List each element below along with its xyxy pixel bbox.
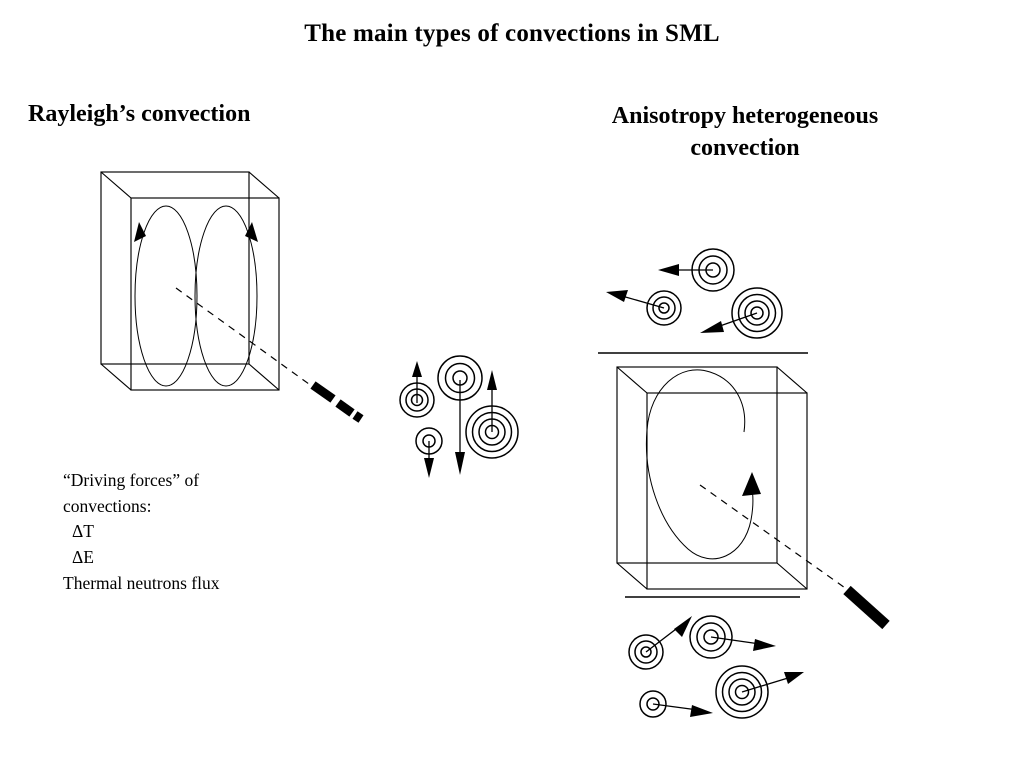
right-convection-box bbox=[617, 367, 807, 589]
vortex-center-a-arrowhead bbox=[412, 361, 422, 377]
vortex-upper-a-arrowhead bbox=[658, 264, 679, 276]
vortex-upper-c bbox=[700, 288, 782, 338]
vortex-center-c-arrowhead bbox=[424, 458, 434, 478]
right-box-edge-bl bbox=[617, 563, 647, 589]
right-box-convection-cell bbox=[646, 370, 761, 559]
vortex-upper-b-arrow-line bbox=[622, 296, 664, 308]
left-beam-bar-seg-2 bbox=[338, 403, 352, 413]
right-beam-dashed-path bbox=[700, 485, 848, 590]
left-box-convection-cells bbox=[134, 206, 258, 386]
vortex-center-d-arrowhead bbox=[487, 370, 497, 390]
right-box-front-face bbox=[647, 393, 807, 589]
left-box-edge-tl bbox=[101, 172, 131, 198]
cell-right-arrowhead bbox=[245, 222, 258, 242]
vortex-upper-b-arrowhead bbox=[606, 290, 628, 302]
vortex-lower-d-arrowhead bbox=[784, 672, 804, 684]
left-box-edge-bl bbox=[101, 364, 131, 390]
vortex-upper-b bbox=[606, 290, 681, 325]
slide-canvas: The main types of convections in SML Ray… bbox=[0, 0, 1024, 768]
left-box-edge-tr bbox=[249, 172, 279, 198]
vortex-upper-c-arrowhead bbox=[700, 321, 724, 333]
vortex-center-b-arrowhead bbox=[455, 452, 465, 475]
vortex-upper-a bbox=[658, 249, 734, 291]
vortex-lower-c-arrowhead bbox=[690, 705, 713, 717]
convection-roll-path bbox=[646, 370, 752, 559]
left-beam-bar bbox=[313, 385, 361, 419]
right-box-edge-br bbox=[777, 563, 807, 589]
right-beam-bar bbox=[847, 590, 886, 625]
right-box-edge-tl bbox=[617, 367, 647, 393]
vortex-center-a bbox=[400, 361, 434, 417]
upper-vortex-cluster bbox=[606, 249, 782, 338]
vortex-lower-d bbox=[716, 666, 804, 718]
vortex-lower-b-arrowhead bbox=[753, 639, 776, 651]
vortex-lower-a bbox=[629, 616, 692, 669]
convection-roll-arrowhead bbox=[742, 472, 761, 496]
right-box-edge-tr bbox=[777, 367, 807, 393]
diagram-artwork bbox=[0, 0, 1024, 768]
vortex-center-b bbox=[438, 356, 482, 475]
vortex-lower-c bbox=[640, 691, 713, 717]
vortex-lower-c-arrow-line bbox=[653, 704, 698, 710]
right-box-back-face bbox=[617, 367, 777, 563]
center-vortex-cluster bbox=[400, 356, 518, 478]
left-box-back-face bbox=[101, 172, 249, 364]
vortex-center-c bbox=[416, 428, 442, 478]
left-box-edge-br bbox=[249, 364, 279, 390]
vortex-lower-b bbox=[690, 616, 776, 658]
lower-vortex-cluster bbox=[629, 616, 804, 718]
vortex-lower-a-arrowhead bbox=[674, 616, 692, 637]
left-beam-bar-seg-1 bbox=[313, 385, 333, 399]
left-beam-dashed-path bbox=[176, 288, 320, 392]
left-beam-bar-seg-3 bbox=[355, 415, 361, 419]
left-convection-box bbox=[101, 172, 279, 390]
